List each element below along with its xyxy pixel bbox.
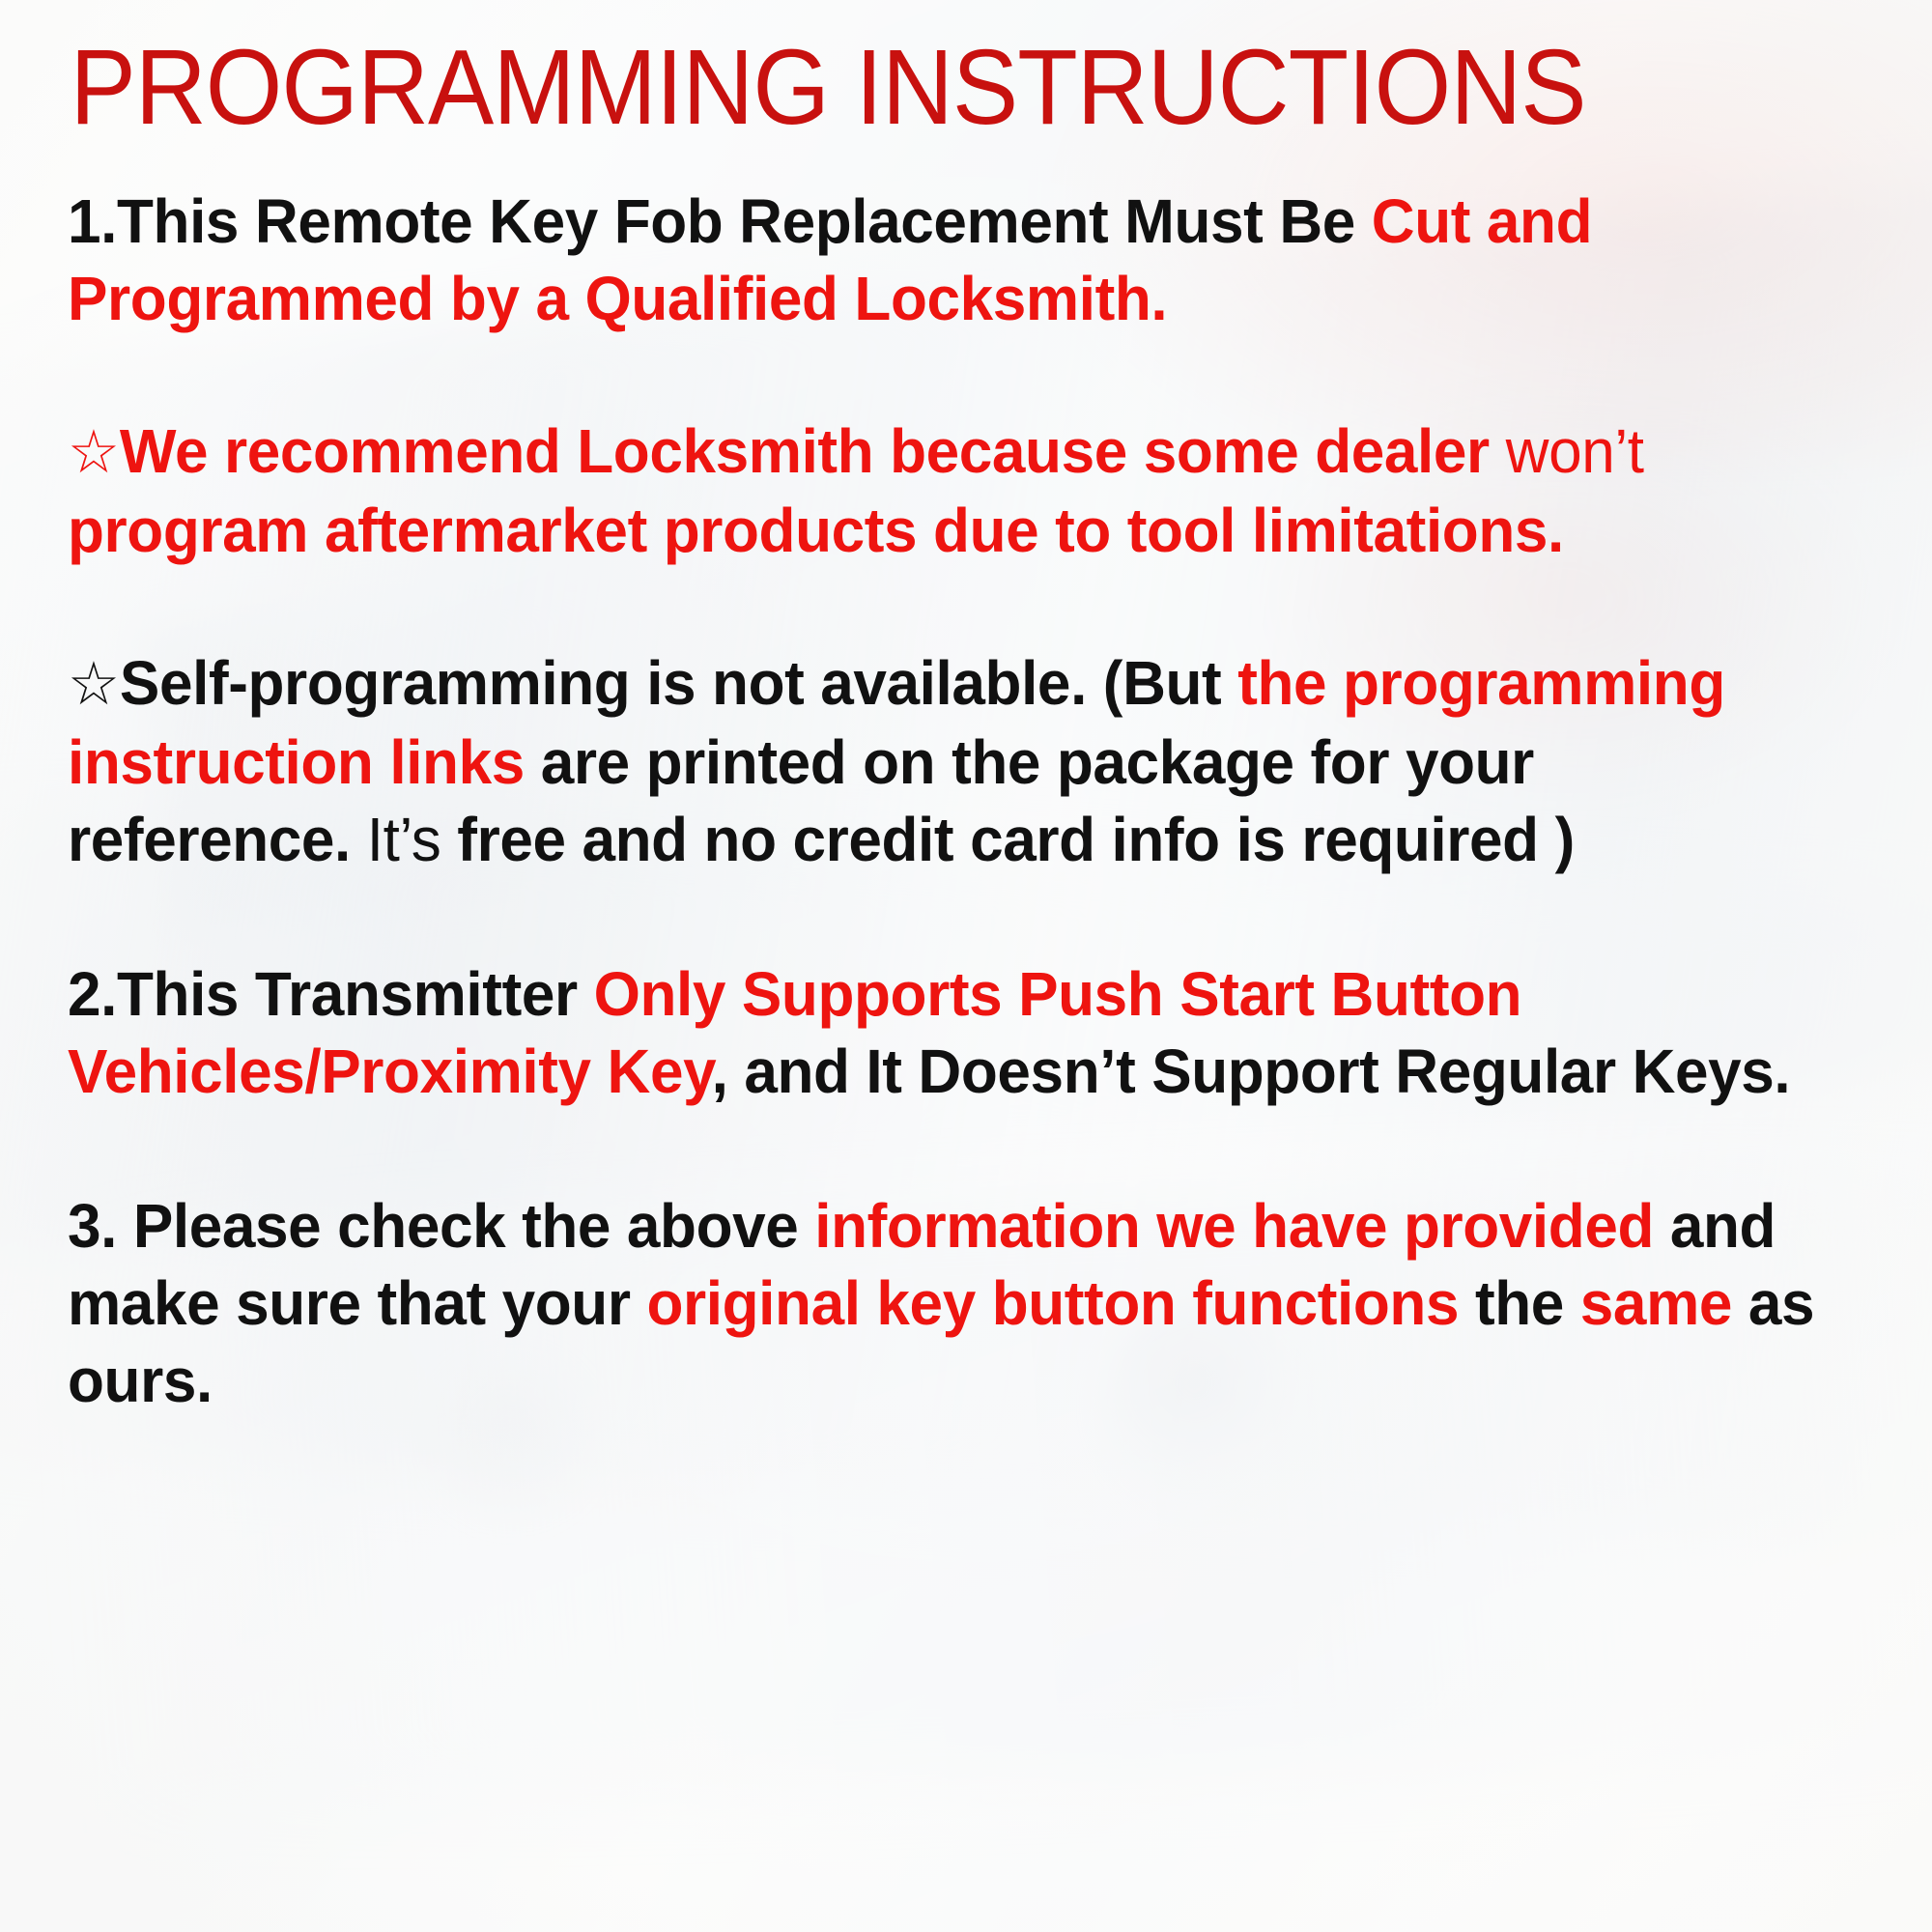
paragraph-spacer-1 (68, 337, 1874, 412)
note-selfprog-text-its: It’s (367, 805, 441, 874)
paragraph-spacer-2 (68, 569, 1874, 644)
instruction-item-2: 2.This Transmitter Only Supports Push St… (68, 955, 1820, 1110)
instruction-note-locksmith: ☆We recommend Locksmith because some dea… (68, 412, 1820, 569)
item-3-text-e: the (1459, 1268, 1580, 1338)
page-title: PROGRAMMING INSTRUCTIONS (0, 0, 1797, 148)
paragraph-spacer-4 (68, 1110, 1874, 1187)
instructions-body: 1.This Remote Key Fob Replacement Must B… (0, 148, 1932, 1419)
instruction-note-self-programming: ☆Self-programming is not available. (But… (68, 644, 1820, 878)
item-3-text-functions: original key button functions (646, 1268, 1459, 1338)
star-outline-icon-2: ☆ (68, 651, 120, 718)
instruction-graphic: PROGRAMMING INSTRUCTIONS 1.This Remote K… (0, 0, 1932, 1932)
note-locksmith-text-wont: won’t (1506, 416, 1644, 486)
item-3-text-info: information we have provided (814, 1191, 1654, 1261)
item-3-text-a: 3. Please check the above (68, 1191, 814, 1261)
paragraph-spacer-3 (68, 878, 1874, 955)
item-2-text-a: 2.This Transmitter (68, 959, 594, 1029)
note-selfprog-text-e: free and no credit card info is required… (440, 805, 1574, 874)
item-3-text-same: same (1580, 1268, 1732, 1338)
note-locksmith-text-c: program aftermarket products due to tool… (68, 496, 1564, 565)
item-1-text-black: 1.This Remote Key Fob Replacement Must B… (68, 186, 1372, 256)
item-2-text-c: , and It Doesn’t Support Regular Keys. (712, 1037, 1791, 1106)
star-outline-icon: ☆ (68, 419, 120, 486)
instruction-item-1: 1.This Remote Key Fob Replacement Must B… (68, 183, 1820, 337)
content-area: PROGRAMMING INSTRUCTIONS 1.This Remote K… (0, 0, 1932, 1419)
note-selfprog-text-a: Self-programming is not available. (But (120, 648, 1237, 718)
note-locksmith-text-a: We recommend Locksmith because some deal… (120, 416, 1506, 486)
instruction-item-3: 3. Please check the above information we… (68, 1187, 1820, 1419)
